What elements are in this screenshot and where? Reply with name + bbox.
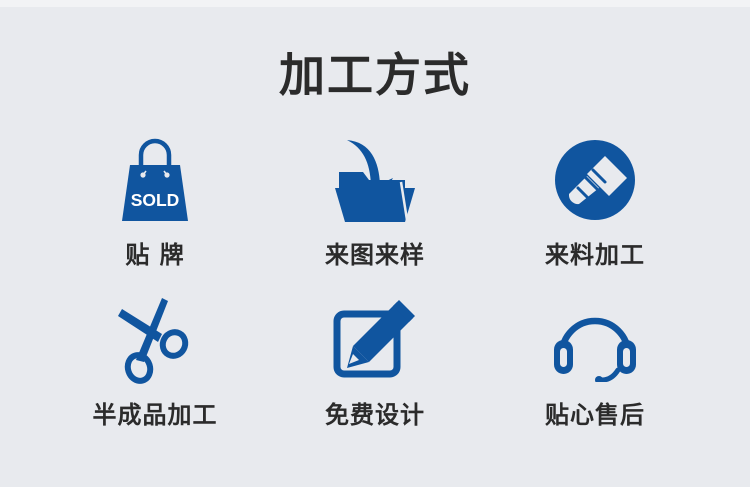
feature-row: SOLD 贴 牌 [45, 132, 705, 292]
feature-label: 贴 牌 [125, 240, 184, 270]
feature-item-1[interactable]: 来图来样 [265, 132, 485, 292]
feature-item-3[interactable]: 半成品加工 [45, 292, 265, 452]
icon-wrap [553, 132, 637, 228]
circle-scraper-icon [553, 138, 637, 222]
square-pen-edit-icon [329, 296, 421, 384]
feature-label: 来图来样 [325, 240, 425, 270]
page-title: 加工方式 [0, 47, 750, 103]
icon-wrap [114, 292, 196, 388]
feature-item-5[interactable]: 贴心售后 [485, 292, 705, 452]
feature-label: 免费设计 [325, 400, 425, 430]
scissors-icon [114, 294, 196, 386]
feature-label: 贴心售后 [545, 400, 645, 430]
top-strip [0, 0, 750, 7]
feature-item-2[interactable]: 来料加工 [485, 132, 705, 292]
bottom-strip [0, 487, 750, 501]
page-root: 加工方式 SOLD [0, 0, 750, 501]
feature-item-0[interactable]: SOLD 贴 牌 [45, 132, 265, 292]
icon-wrap [327, 132, 423, 228]
shopping-bag-sold-icon: SOLD [112, 135, 198, 225]
sold-badge-text: SOLD [131, 190, 180, 210]
feature-label: 半成品加工 [93, 400, 218, 430]
folder-download-arrow-icon [327, 134, 423, 226]
icon-wrap: SOLD [112, 132, 198, 228]
feature-label: 来料加工 [545, 240, 645, 270]
feature-item-4[interactable]: 免费设计 [265, 292, 485, 452]
feature-grid: SOLD 贴 牌 [45, 132, 705, 452]
feature-row: 半成品加工 [45, 292, 705, 452]
icon-wrap [549, 292, 641, 388]
icon-wrap [329, 292, 421, 388]
headset-support-icon [549, 298, 641, 382]
